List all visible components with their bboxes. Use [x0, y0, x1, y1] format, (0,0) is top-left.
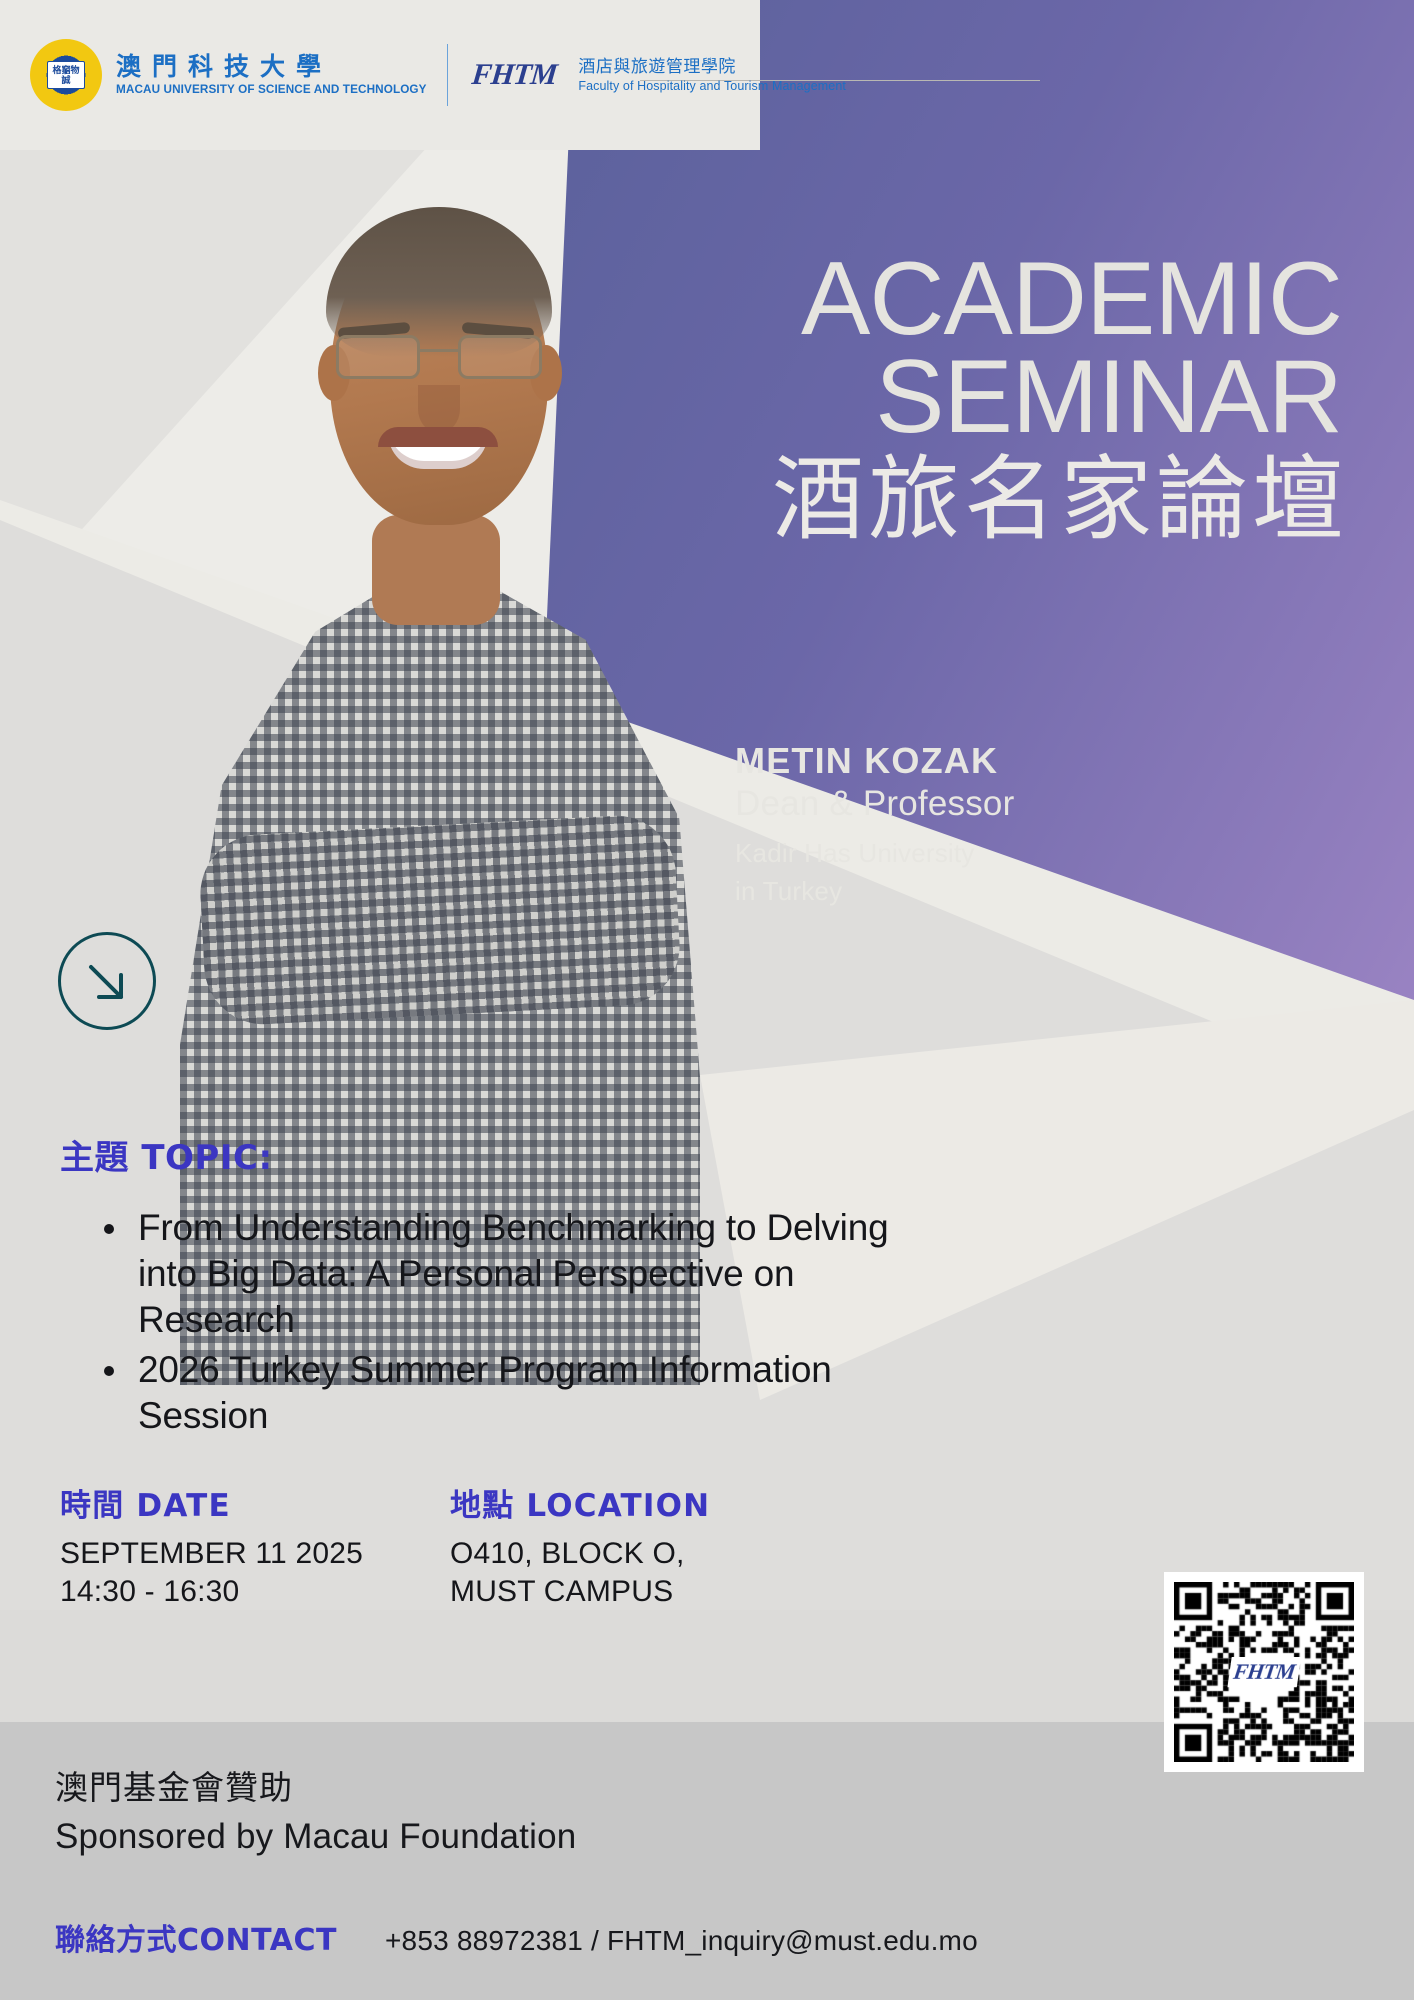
arrow-down-right-icon	[58, 932, 156, 1030]
qr-center-logo-icon: FHTM	[1227, 1657, 1300, 1687]
university-name-en: MACAU UNIVERSITY OF SCIENCE AND TECHNOLO…	[116, 83, 427, 98]
topic-list-item: 2026 Turkey Summer Program Information S…	[138, 1347, 940, 1439]
logo-divider	[447, 44, 449, 106]
portrait-neck	[372, 515, 500, 625]
location-heading: 地點 LOCATION	[450, 1480, 950, 1525]
portrait-nose	[418, 385, 460, 433]
faculty-name-cn: 酒店與旅遊管理學院	[578, 56, 846, 78]
sponsor-text-cn: 澳門基金會贊助	[55, 1765, 576, 1811]
date-value-line-2: 14:30 - 16:30	[60, 1573, 450, 1611]
poster-title-block: ACADEMIC SEMINAR 酒旅名家論壇	[700, 250, 1400, 554]
contact-block: 聯絡方式CONTACT +853 88972381 / FHTM_inquiry…	[55, 1915, 978, 1959]
title-line-cn: 酒旅名家論壇	[700, 446, 1400, 554]
speaker-name: METIN KOZAK	[735, 740, 1355, 782]
contact-value[interactable]: +853 88972381 / FHTM_inquiry@must.edu.mo	[385, 1925, 978, 1957]
portrait-glasses-icon	[332, 335, 546, 385]
date-block: 時間 DATE SEPTEMBER 11 2025 14:30 - 16:30	[60, 1480, 450, 1611]
location-value-line-1: O410, BLOCK O,	[450, 1535, 950, 1573]
university-name-block: 澳門科技大學 MACAU UNIVERSITY OF SCIENCE AND T…	[116, 52, 421, 98]
portrait-arms	[197, 813, 682, 1028]
location-block: 地點 LOCATION O410, BLOCK O, MUST CAMPUS	[450, 1480, 950, 1611]
topic-section: 主題 TOPIC: From Understanding Benchmarkin…	[60, 1130, 940, 1443]
title-line-2: SEMINAR	[700, 348, 1400, 446]
contact-heading: 聯絡方式CONTACT	[55, 1915, 385, 1959]
crest-characters: 格竆物誠	[49, 66, 83, 86]
glasses-lens-right	[458, 335, 542, 379]
faculty-name-block: 酒店與旅遊管理學院 Faculty of Hospitality and Tou…	[578, 56, 846, 95]
title-line-1: ACADEMIC	[700, 250, 1400, 348]
topic-list-item: From Understanding Benchmarking to Delvi…	[138, 1205, 940, 1343]
poster-header: 格竆物誠 澳門科技大學 MACAU UNIVERSITY OF SCIENCE …	[0, 0, 1414, 150]
speaker-affiliation-line-1: Kadir Has University	[735, 834, 1355, 872]
date-value-line-1: SEPTEMBER 11 2025	[60, 1535, 450, 1573]
sponsor-block: 澳門基金會贊助 Sponsored by Macau Foundation	[55, 1765, 576, 1863]
topic-list: From Understanding Benchmarking to Delvi…	[60, 1205, 940, 1439]
date-heading: 時間 DATE	[60, 1480, 450, 1525]
fhtm-logo-icon: FHTM	[470, 58, 558, 92]
location-value-line-2: MUST CAMPUS	[450, 1573, 950, 1611]
speaker-role: Dean & Professor	[735, 782, 1355, 826]
topic-heading: 主題 TOPIC:	[60, 1130, 940, 1179]
faculty-name-en: Faculty of Hospitality and Tourism Manag…	[578, 78, 846, 95]
glasses-bridge	[420, 349, 458, 352]
seminar-poster: 格竆物誠 澳門科技大學 MACAU UNIVERSITY OF SCIENCE …	[0, 0, 1414, 2000]
sponsor-text-en: Sponsored by Macau Foundation	[55, 1811, 576, 1863]
university-name-cn: 澳門科技大學	[116, 52, 421, 82]
must-crest-logo-icon: 格竆物誠	[30, 39, 102, 111]
speaker-info-block: METIN KOZAK Dean & Professor Kadir Has U…	[735, 740, 1355, 910]
event-details: 時間 DATE SEPTEMBER 11 2025 14:30 - 16:30 …	[60, 1480, 1160, 1611]
glasses-lens-left	[336, 335, 420, 379]
qr-code-matrix: FHTM	[1174, 1582, 1354, 1762]
speaker-affiliation-line-2: in Turkey	[735, 872, 1355, 910]
qr-code[interactable]: FHTM	[1164, 1572, 1364, 1772]
